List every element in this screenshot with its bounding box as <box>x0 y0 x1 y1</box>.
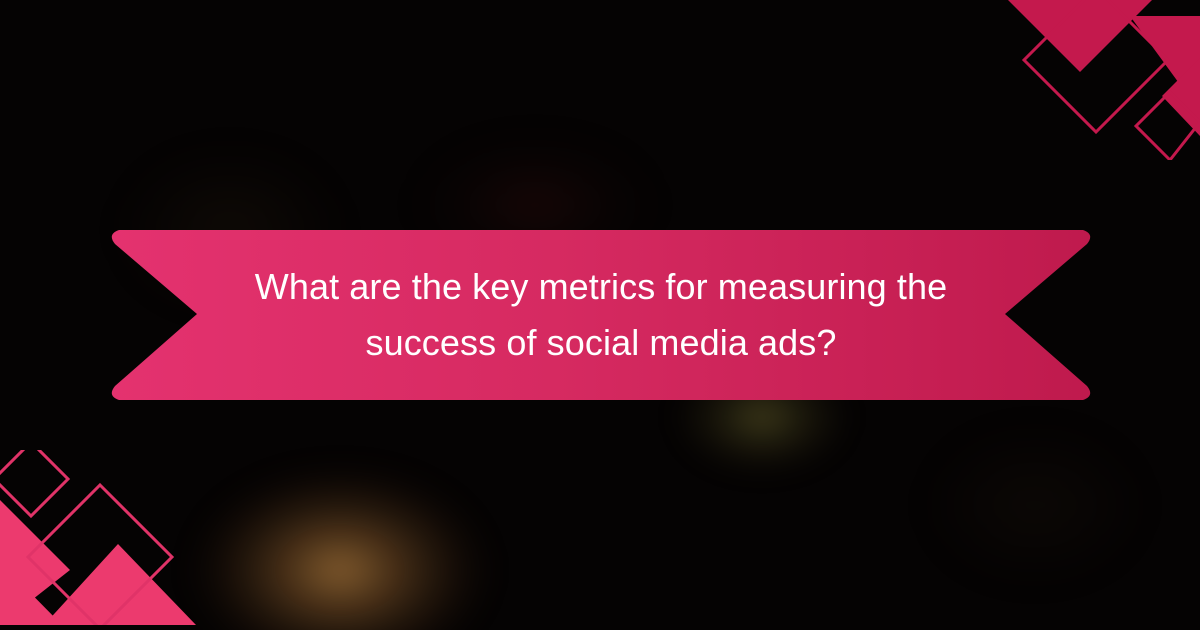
corner-ornament-bottom-left <box>0 450 200 630</box>
outlined-diamond-large <box>28 485 172 625</box>
glow-amber <box>195 470 485 630</box>
corner-bl-shapes <box>0 450 196 625</box>
corner-tr-shapes <box>1008 0 1200 160</box>
outlined-diamond-large <box>1024 0 1168 132</box>
solid-triangle-right <box>1130 16 1200 112</box>
solid-triangle-left <box>0 500 70 625</box>
solid-triangle-corner <box>1162 58 1200 136</box>
outlined-diamond-small <box>1136 92 1200 160</box>
poster-canvas: What are the key metrics for measuring t… <box>0 0 1200 630</box>
outlined-diamond-small <box>0 450 68 516</box>
question-line-2: success of social media ads? <box>365 315 836 371</box>
corner-ornament-top-right <box>1000 0 1200 165</box>
solid-triangle-left-lower <box>0 562 62 625</box>
solid-triangle-up <box>44 544 196 625</box>
question-ribbon: What are the key metrics for measuring t… <box>105 224 1097 406</box>
question-text: What are the key metrics for measuring t… <box>255 224 947 406</box>
glow-dim-right <box>930 430 1140 580</box>
solid-triangle-down <box>1008 0 1152 72</box>
question-line-1: What are the key metrics for measuring t… <box>255 259 947 315</box>
